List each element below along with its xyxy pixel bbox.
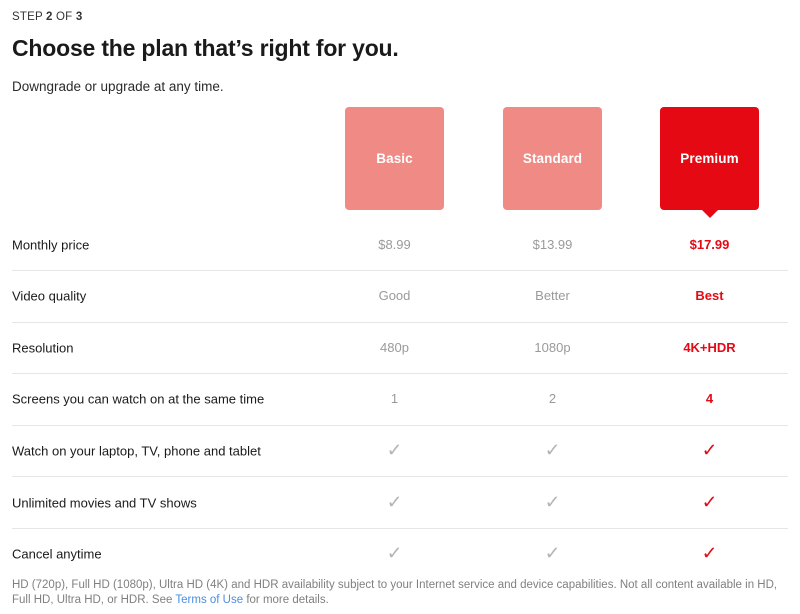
cell-premium: Best [660,287,759,305]
check-icon: ✓ [702,544,718,562]
table-row: Video quality Good Better Best [12,270,788,322]
step-current-number: 2 [46,11,53,23]
check-icon: ✓ [545,493,561,511]
cell-basic: ✓ [345,441,444,461]
plan-card-premium-label: Premium [680,151,738,166]
cell-basic: Good [345,287,444,305]
table-row: Unlimited movies and TV shows ✓ ✓ ✓ [12,476,788,528]
page-title: Choose the plan that’s right for you. [12,33,788,63]
row-label: Screens you can watch on at the same tim… [12,391,264,408]
plan-comparison-table: Monthly price $8.99 $13.99 $17.99 Video … [12,219,788,579]
cell-premium: ✓ [660,441,759,461]
check-icon: ✓ [702,441,718,459]
cell-basic: ✓ [345,544,444,564]
table-row: Cancel anytime ✓ ✓ ✓ [12,528,788,580]
cell-basic: ✓ [345,493,444,513]
cell-standard: ✓ [503,441,602,461]
row-label: Resolution [12,339,73,356]
table-row: Monthly price $8.99 $13.99 $17.99 [12,219,788,270]
table-row: Watch on your laptop, TV, phone and tabl… [12,425,788,477]
cell-basic: 480p [345,339,444,357]
cell-premium: ✓ [660,493,759,513]
footnote-text-after: for more details. [243,594,329,606]
legal-footnote: HD (720p), Full HD (1080p), Ultra HD (4K… [12,578,788,608]
cell-standard: ✓ [503,544,602,564]
cell-premium: ✓ [660,544,759,564]
check-icon: ✓ [387,493,403,511]
row-label: Watch on your laptop, TV, phone and tabl… [12,443,261,460]
plan-selection-page: STEP 2 OF 3 Choose the plan that’s right… [0,0,800,614]
cell-standard: 1080p [503,339,602,357]
cell-premium: 4K+HDR [660,339,759,357]
plan-card-premium[interactable]: Premium [660,107,759,210]
row-label: Video quality [12,288,86,305]
table-row: Resolution 480p 1080p 4K+HDR [12,322,788,374]
cell-standard: $13.99 [503,236,602,254]
plan-card-basic[interactable]: Basic [345,107,444,210]
selected-plan-pointer-icon [701,209,719,218]
page-subtitle: Downgrade or upgrade at any time. [12,78,788,96]
step-indicator: STEP 2 OF 3 [12,0,788,24]
cell-premium: $17.99 [660,236,759,254]
check-icon: ✓ [545,544,561,562]
cell-premium: 4 [660,390,759,408]
step-middle-label: OF [53,11,76,23]
plan-card-basic-label: Basic [376,151,413,166]
table-row: Screens you can watch on at the same tim… [12,373,788,425]
terms-of-use-link[interactable]: Terms of Use [175,594,243,606]
check-icon: ✓ [545,441,561,459]
step-prefix-label: STEP [12,11,46,23]
plan-card-standard-label: Standard [523,151,582,166]
cell-standard: ✓ [503,493,602,513]
plan-card-standard[interactable]: Standard [503,107,602,210]
check-icon: ✓ [702,493,718,511]
cell-standard: 2 [503,390,602,408]
footnote-text-before: HD (720p), Full HD (1080p), Ultra HD (4K… [12,579,777,606]
check-icon: ✓ [387,544,403,562]
cell-standard: Better [503,287,602,305]
row-label: Cancel anytime [12,546,102,563]
row-label: Unlimited movies and TV shows [12,494,197,511]
plan-card-row: Basic Standard Premium [12,107,788,219]
step-total-number: 3 [76,11,83,23]
cell-basic: 1 [345,390,444,408]
check-icon: ✓ [387,441,403,459]
row-label: Monthly price [12,236,89,253]
cell-basic: $8.99 [345,236,444,254]
